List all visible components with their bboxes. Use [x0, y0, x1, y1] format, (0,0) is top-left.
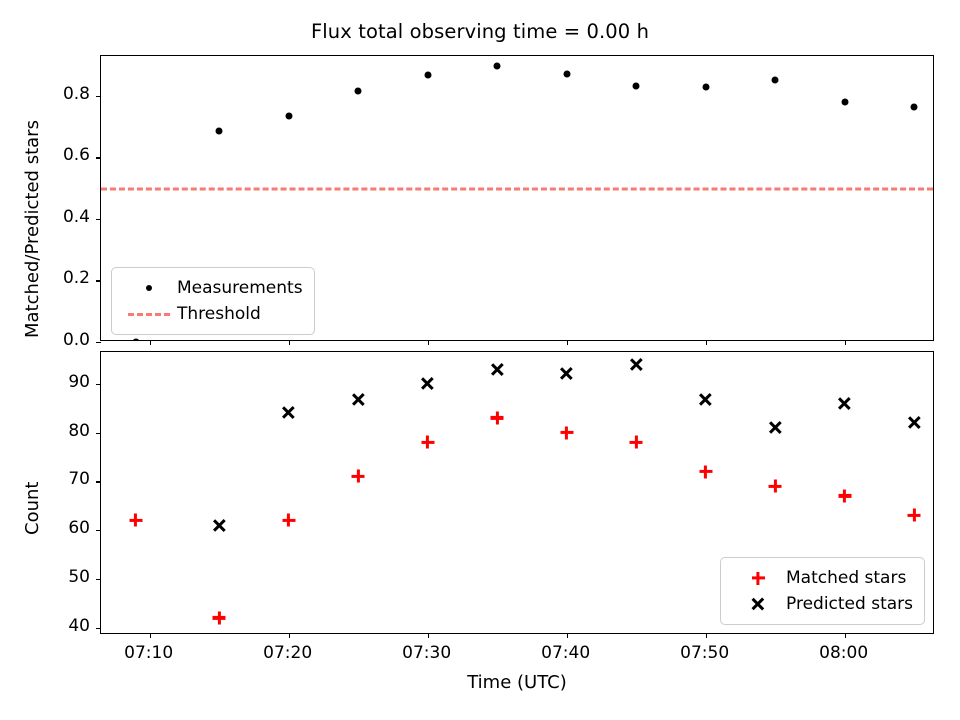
data-point-measurement	[355, 88, 362, 95]
y-tick-label: 0.6	[63, 145, 90, 165]
data-point-matched-star	[629, 435, 644, 450]
data-point-measurement	[772, 76, 779, 83]
data-point-matched-star	[837, 488, 852, 503]
data-point-matched-star	[698, 464, 713, 479]
y-tick-label: 90	[68, 372, 90, 392]
data-point-matched-star	[212, 610, 227, 625]
x-tick	[845, 340, 846, 345]
x-tick-label: 07:30	[377, 643, 477, 663]
figure: Flux total observing time = 0.00 h Measu…	[0, 0, 960, 720]
y-tick-label: 0.8	[63, 84, 90, 104]
data-point-predicted-star	[559, 366, 574, 381]
y-tick-label: 80	[68, 421, 90, 441]
data-point-measurement	[841, 98, 848, 105]
x-tick-label: 07:50	[655, 643, 755, 663]
data-point-predicted-star	[212, 518, 227, 533]
legend-label: Measurements	[177, 278, 303, 298]
data-point-matched-star	[490, 410, 505, 425]
y-tick	[96, 219, 101, 220]
y-tick	[96, 530, 101, 531]
bottom-plot-axes: Matched stars Predicted stars	[100, 351, 934, 634]
cross-marker-icon	[730, 591, 786, 617]
data-point-predicted-star	[698, 392, 713, 407]
legend-label: Predicted stars	[786, 594, 913, 614]
dot-marker-icon	[121, 275, 177, 301]
dashed-line-icon	[121, 301, 177, 327]
y-tick	[96, 96, 101, 97]
x-tick	[150, 633, 151, 638]
data-point-matched-star	[907, 508, 922, 523]
x-tick	[567, 340, 568, 345]
top-plot-axes: Measurements Threshold	[100, 55, 934, 341]
threshold-line	[101, 188, 933, 191]
y-tick-label: 60	[68, 518, 90, 538]
bottom-plot-legend[interactable]: Matched stars Predicted stars	[720, 557, 925, 625]
x-tick	[150, 340, 151, 345]
data-point-measurement	[424, 72, 431, 79]
data-point-measurement	[633, 83, 640, 90]
legend-label: Matched stars	[786, 568, 906, 588]
data-point-measurement	[285, 112, 292, 119]
top-plot-legend[interactable]: Measurements Threshold	[111, 267, 315, 335]
data-point-predicted-star	[837, 396, 852, 411]
data-point-matched-star	[351, 469, 366, 484]
data-point-measurement	[494, 63, 501, 70]
legend-item-threshold[interactable]: Threshold	[121, 301, 303, 327]
data-point-measurement	[911, 103, 918, 110]
x-tick-label: 08:00	[794, 643, 894, 663]
legend-item-matched-stars[interactable]: Matched stars	[730, 565, 913, 591]
data-point-predicted-star	[281, 405, 296, 420]
data-point-predicted-star	[490, 362, 505, 377]
data-point-matched-star	[768, 479, 783, 494]
y-tick-label: 0.0	[63, 330, 90, 350]
x-tick	[706, 340, 707, 345]
y-tick	[96, 280, 101, 281]
x-tick	[706, 633, 707, 638]
data-point-predicted-star	[420, 376, 435, 391]
data-point-measurement	[563, 70, 570, 77]
legend-item-predicted-stars[interactable]: Predicted stars	[730, 591, 913, 617]
y-tick	[96, 579, 101, 580]
legend-item-measurements[interactable]: Measurements	[121, 275, 303, 301]
data-point-predicted-star	[907, 415, 922, 430]
data-point-matched-star	[559, 425, 574, 440]
data-point-predicted-star	[629, 357, 644, 372]
y-tick-label: 70	[68, 469, 90, 489]
x-tick	[428, 633, 429, 638]
y-tick-label: 0.4	[63, 207, 90, 227]
y-tick-label: 40	[68, 616, 90, 636]
y-tick	[96, 481, 101, 482]
y-tick-label: 0.2	[63, 268, 90, 288]
x-tick	[289, 340, 290, 345]
data-point-matched-star	[420, 435, 435, 450]
y-tick-label: 50	[68, 567, 90, 587]
x-tick	[428, 340, 429, 345]
top-plot-y-axis-label: Matched/Predicted stars	[22, 120, 43, 338]
y-tick	[96, 384, 101, 385]
data-point-matched-star	[128, 513, 143, 528]
x-tick-label: 07:40	[516, 643, 616, 663]
data-point-measurement	[216, 128, 223, 135]
x-tick	[289, 633, 290, 638]
x-tick	[567, 633, 568, 638]
x-tick-label: 07:10	[99, 643, 199, 663]
data-point-predicted-star	[768, 420, 783, 435]
y-tick	[96, 157, 101, 158]
data-point-predicted-star	[351, 392, 366, 407]
y-tick	[96, 433, 101, 434]
bottom-plot-y-axis-label: Count	[22, 482, 43, 535]
y-tick	[96, 342, 101, 343]
data-point-matched-star	[281, 513, 296, 528]
page-title: Flux total observing time = 0.00 h	[0, 20, 960, 43]
legend-label: Threshold	[177, 304, 261, 324]
y-tick	[96, 628, 101, 629]
x-tick-label: 07:20	[238, 643, 338, 663]
x-axis-label: Time (UTC)	[100, 672, 934, 693]
data-point-measurement	[702, 83, 709, 90]
plus-marker-icon	[730, 565, 786, 591]
data-point-measurement	[132, 339, 139, 341]
x-tick	[845, 633, 846, 638]
